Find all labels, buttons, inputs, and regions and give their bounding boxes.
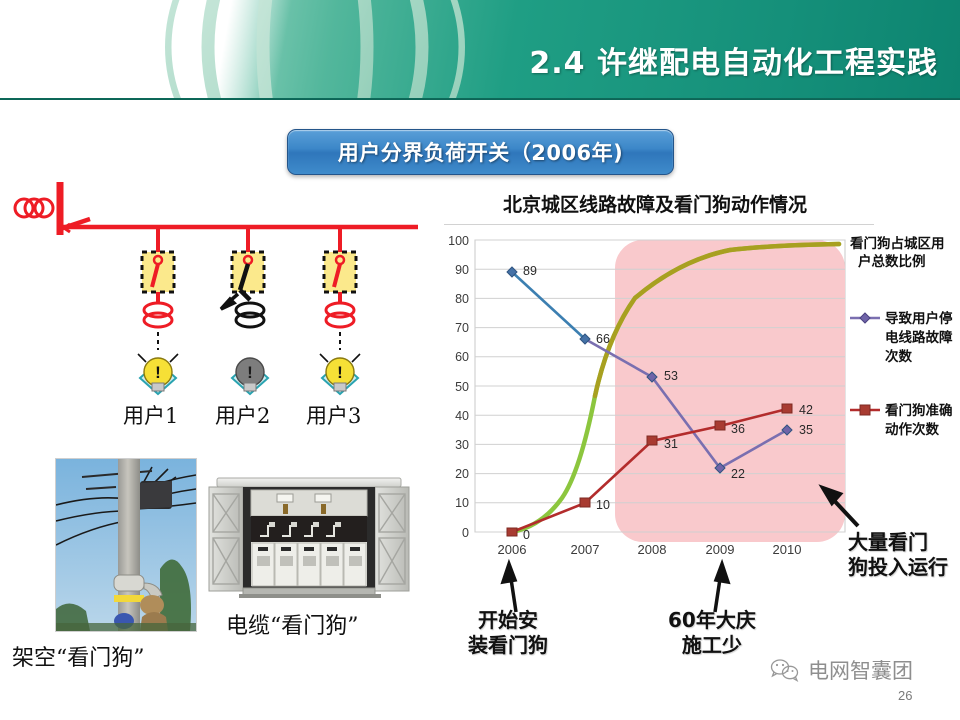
chart-title-rule <box>444 224 874 225</box>
overhead-pole-photo <box>55 458 197 632</box>
chart-title: 北京城区线路故障及看门狗动作情况 <box>430 190 880 217</box>
legend-item-watchdog: 看门狗准确 动作次数 <box>850 402 953 438</box>
feeder-drop-2 <box>221 227 264 327</box>
customer-lamp-3-icon: ! <box>320 354 360 394</box>
chart-legend: 看门狗占城区用 户总数比例 导致用户停 电线路故障 次数 看门狗准确 动作次数 <box>849 235 953 438</box>
svg-text:40: 40 <box>455 409 469 423</box>
svg-text:20: 20 <box>455 467 469 481</box>
svg-text:看门狗准确: 看门狗准确 <box>884 402 953 419</box>
svg-text:电线路故障: 电线路故障 <box>885 329 953 346</box>
callout-mass-deploy-line1: 大量看门 <box>848 530 948 555</box>
slide-header: 2.4 许继配电自动化工程实践 <box>0 0 960 100</box>
svg-text:0: 0 <box>462 526 469 540</box>
cable-photo-caption: 电缆“看门狗” <box>226 608 359 640</box>
callout-anniversary-line2: 施工少 <box>668 633 756 658</box>
customer-label-3: 用户3 <box>306 400 361 430</box>
customer-label-1: 用户1 <box>123 400 178 430</box>
svg-text:动作次数: 动作次数 <box>885 421 939 438</box>
svg-text:90: 90 <box>455 263 469 277</box>
callout-mass-deploy: 大量看门 狗投入运行 <box>848 530 948 580</box>
legend-item-outage: 导致用户停 电线路故障 次数 <box>850 310 953 365</box>
slide-root: 2.4 许继配电自动化工程实践 用户分界负荷开关（2006年) <box>0 0 960 720</box>
section-banner-label: 用户分界负荷开关（2006年) <box>338 137 624 167</box>
line-chart: 北京城区线路故障及看门狗动作情况 <box>430 190 960 570</box>
y-axis-labels: 100 90 80 70 60 50 40 30 20 10 0 <box>448 234 469 540</box>
svg-text:31: 31 <box>664 437 678 451</box>
svg-text:导致用户停: 导致用户停 <box>885 310 953 327</box>
svg-text:户总数比例: 户总数比例 <box>858 253 926 270</box>
customer-lamp-1-icon: ! <box>138 354 178 394</box>
callout-start-install-line1: 开始安 <box>468 608 548 633</box>
circuit-diagram: ! ! ! 用户1 用户2 用户3 <box>0 182 430 442</box>
callout-mass-deploy-line2: 狗投入运行 <box>848 555 948 580</box>
wechat-icon <box>770 658 800 682</box>
svg-text:80: 80 <box>455 292 469 306</box>
svg-text:30: 30 <box>455 438 469 452</box>
callout-start-install-line2: 装看门狗 <box>468 633 548 658</box>
callout-anniversary-line1: 60年大庆 <box>668 608 756 633</box>
watermark-text: 电网智囊团 <box>808 655 913 685</box>
svg-text:!: ! <box>155 363 161 382</box>
callout-start-install: 开始安 装看门狗 <box>468 608 548 658</box>
svg-text:!: ! <box>247 363 253 382</box>
chart-canvas: 100 90 80 70 60 50 40 30 20 10 0 2006 20… <box>430 226 960 570</box>
svg-text:66: 66 <box>596 332 610 346</box>
svg-text:10: 10 <box>596 498 610 512</box>
svg-text:10: 10 <box>455 496 469 510</box>
cable-cabinet-photo <box>203 468 415 610</box>
svg-text:100: 100 <box>448 234 469 248</box>
header-rule <box>0 98 960 100</box>
feeder-drop-1 <box>142 227 174 350</box>
watermark: 电网智囊团 <box>770 655 913 685</box>
svg-text:89: 89 <box>523 264 537 278</box>
svg-text:!: ! <box>337 363 343 382</box>
svg-text:36: 36 <box>731 422 745 436</box>
customer-label-2: 用户2 <box>215 400 270 430</box>
section-banner: 用户分界负荷开关（2006年) <box>287 129 674 175</box>
svg-text:看门狗占城区用: 看门狗占城区用 <box>849 235 945 252</box>
legend-item-penetration: 看门狗占城区用 户总数比例 <box>849 235 945 270</box>
svg-text:53: 53 <box>664 369 678 383</box>
svg-text:60: 60 <box>455 350 469 364</box>
overhead-photo-caption: 架空“看门狗” <box>12 640 145 672</box>
feeder-drop-3 <box>324 227 356 350</box>
page-title: 2.4 许继配电自动化工程实践 <box>529 38 938 82</box>
svg-text:70: 70 <box>455 321 469 335</box>
svg-text:22: 22 <box>731 467 745 481</box>
svg-text:35: 35 <box>799 423 813 437</box>
fault-arrow-icon <box>221 294 238 309</box>
svg-text:42: 42 <box>799 403 813 417</box>
customer-lamp-2-icon: ! <box>232 358 268 394</box>
page-number: 26 <box>898 688 912 703</box>
svg-text:次数: 次数 <box>885 348 913 365</box>
svg-text:50: 50 <box>455 380 469 394</box>
callout-anniversary: 60年大庆 施工少 <box>668 608 756 658</box>
source-transformer-icon <box>15 199 53 217</box>
